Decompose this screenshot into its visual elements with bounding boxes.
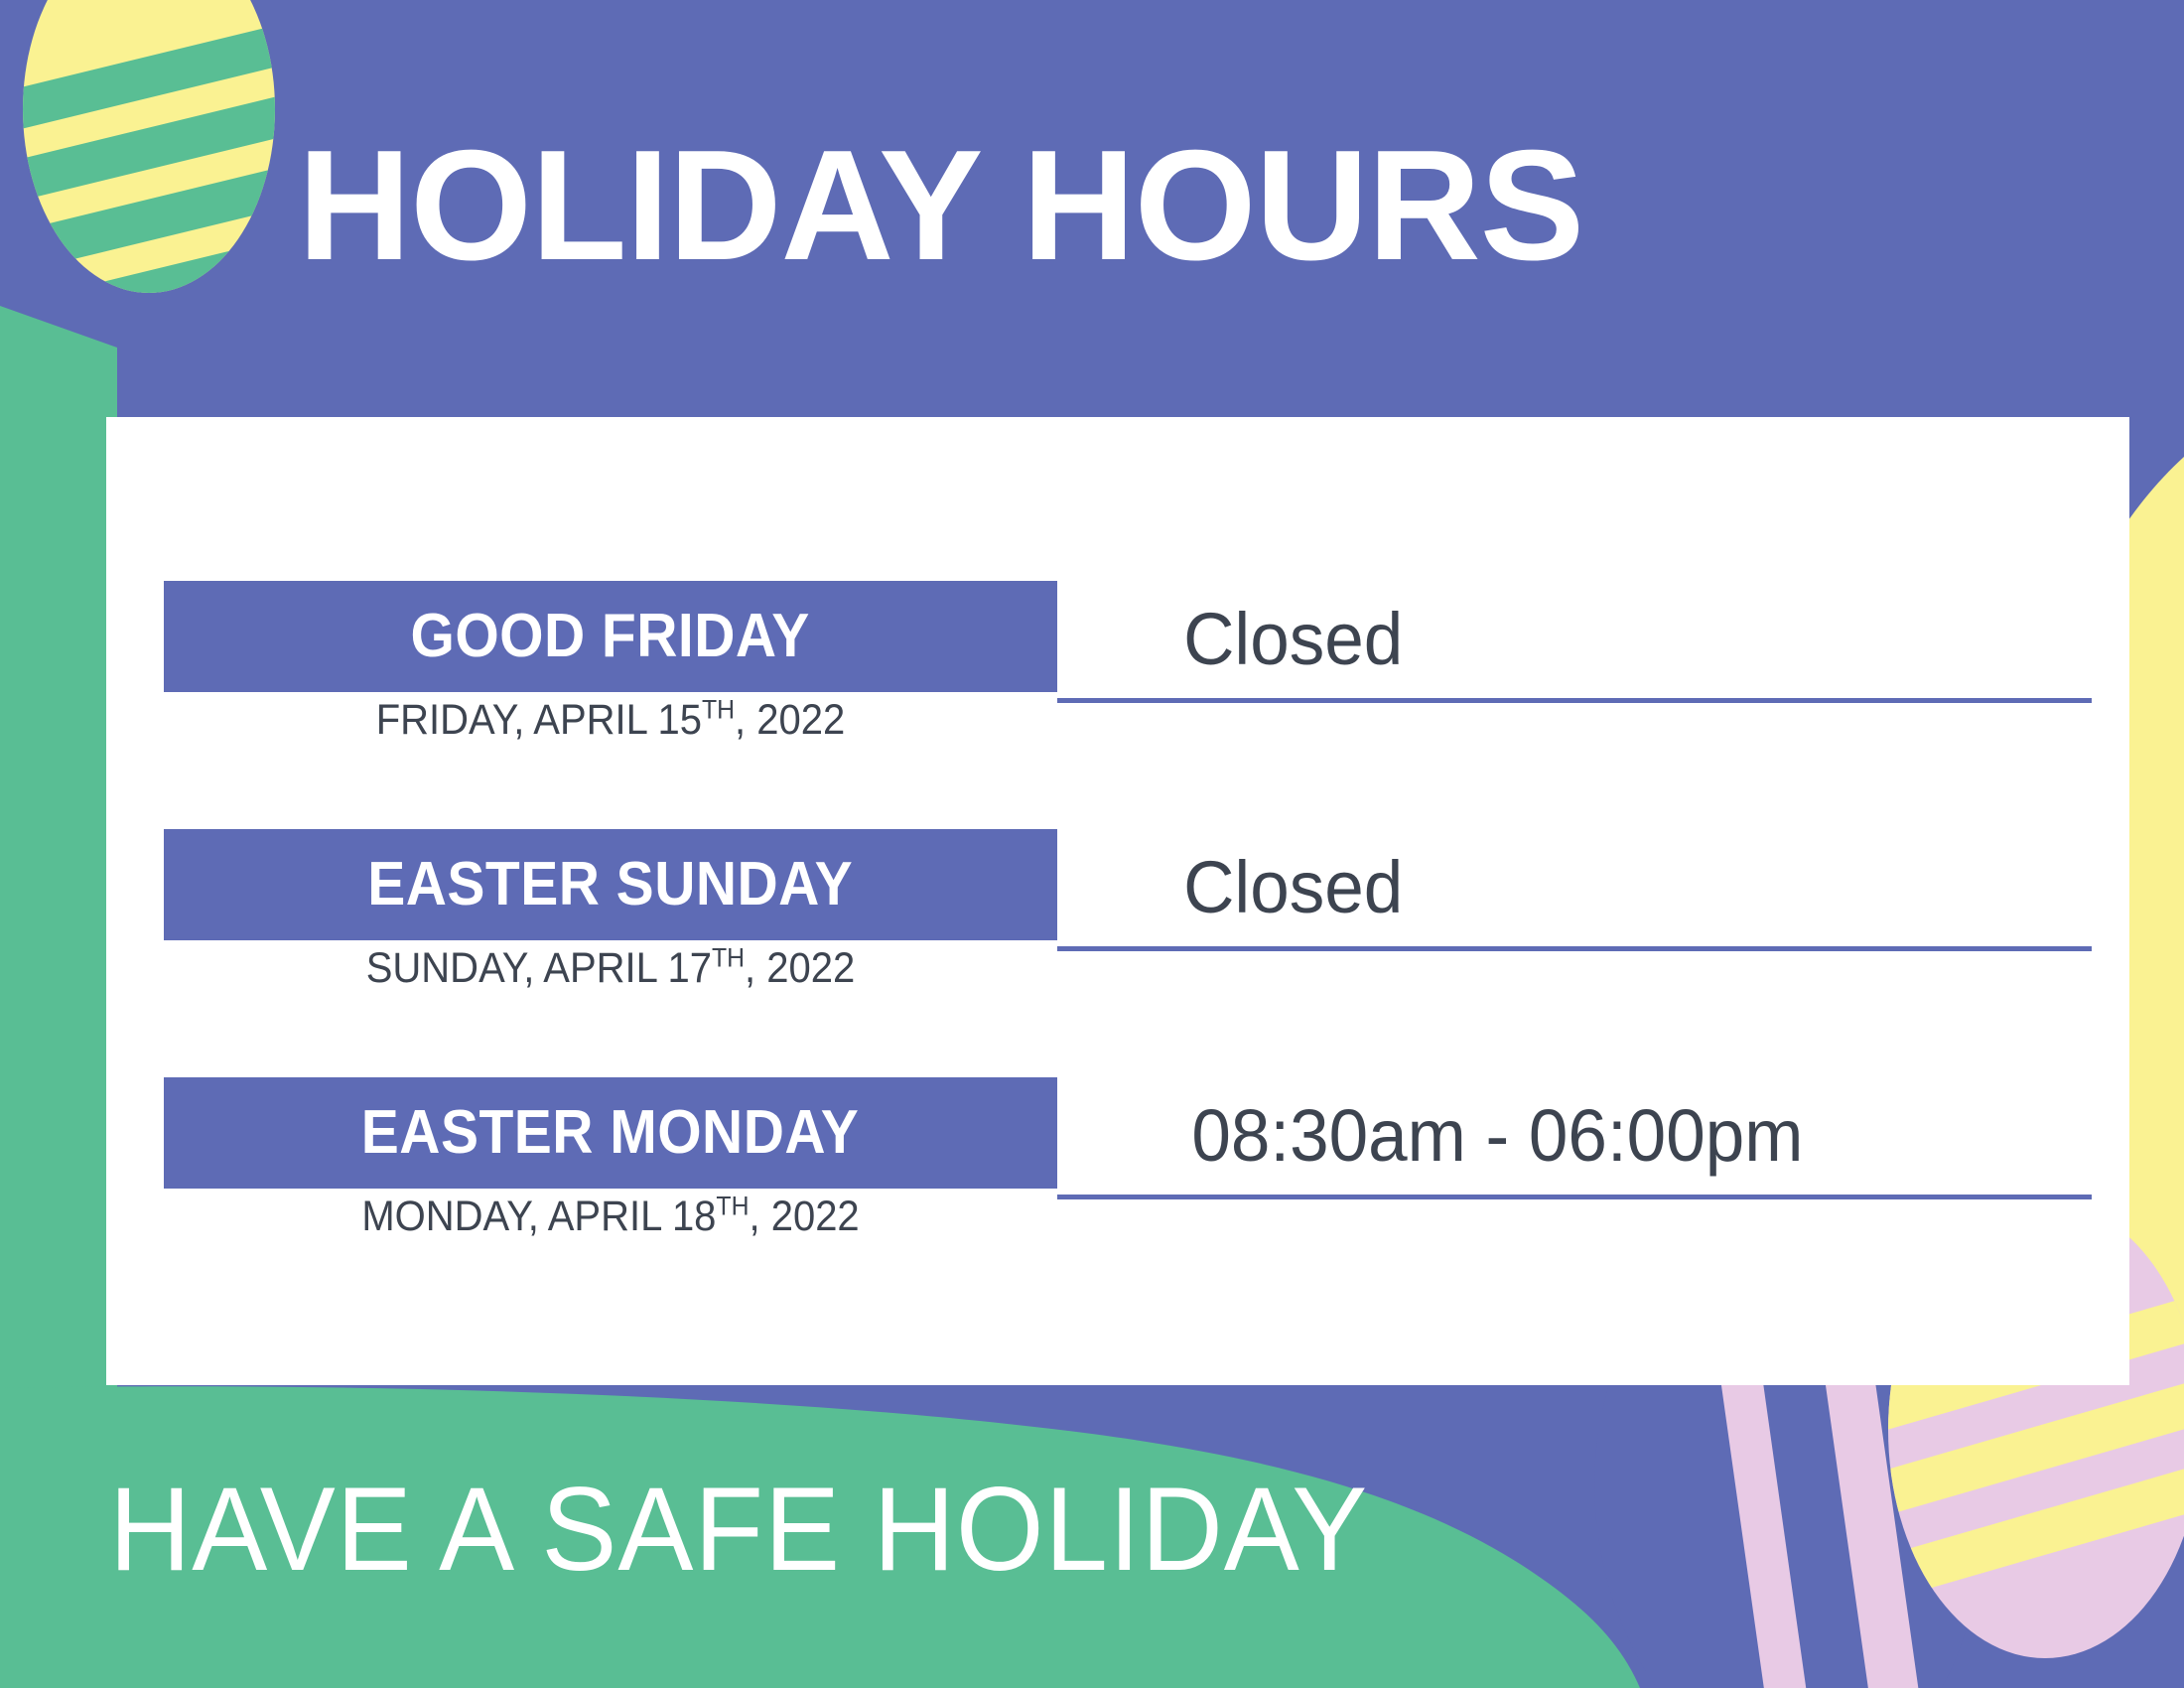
day-date-ordinal: TH — [702, 695, 735, 725]
day-label-bar: EASTER SUNDAY — [164, 829, 1057, 940]
day-date: FRIDAY, APRIL 15TH, 2022 — [196, 696, 1026, 745]
day-date-prefix: FRIDAY, APRIL 15 — [376, 696, 702, 744]
day-date: SUNDAY, APRIL 17TH, 2022 — [196, 944, 1026, 993]
day-date-prefix: MONDAY, APRIL 18 — [361, 1193, 716, 1240]
holiday-hours-poster: HOLIDAY HOURS GOOD FRIDAY FRIDAY, APRIL … — [0, 0, 2184, 1688]
day-date-suffix: , 2022 — [749, 1193, 859, 1240]
day-hours: Closed — [1064, 851, 1403, 924]
day-label: GOOD FRIDAY — [411, 606, 810, 667]
day-hours-field: Closed — [1057, 829, 2092, 951]
day-hours: Closed — [1064, 603, 1403, 676]
schedule-card: GOOD FRIDAY FRIDAY, APRIL 15TH, 2022 Clo… — [106, 417, 2129, 1385]
day-date: MONDAY, APRIL 18TH, 2022 — [196, 1193, 1026, 1241]
day-label-bar: GOOD FRIDAY — [164, 581, 1057, 692]
schedule-row: GOOD FRIDAY FRIDAY, APRIL 15TH, 2022 Clo… — [106, 581, 2129, 730]
page-title: HOLIDAY HOURS — [298, 127, 1583, 284]
day-date-suffix: , 2022 — [745, 944, 855, 992]
schedule-row: EASTER MONDAY MONDAY, APRIL 18TH, 2022 0… — [106, 1077, 2129, 1226]
footer-message: HAVE A SAFE HOLIDAY — [109, 1470, 1368, 1589]
day-date-ordinal: TH — [716, 1192, 749, 1221]
day-label: EASTER SUNDAY — [368, 854, 854, 915]
day-label: EASTER MONDAY — [361, 1102, 859, 1164]
day-hours: 08:30am - 06:00pm — [1072, 1099, 1803, 1173]
schedule-row: EASTER SUNDAY SUNDAY, APRIL 17TH, 2022 C… — [106, 829, 2129, 978]
day-date-prefix: SUNDAY, APRIL 17 — [366, 944, 712, 992]
day-hours-field: Closed — [1057, 581, 2092, 703]
day-hours-field: 08:30am - 06:00pm — [1057, 1077, 2092, 1199]
day-date-ordinal: TH — [712, 943, 745, 973]
day-label-bar: EASTER MONDAY — [164, 1077, 1057, 1189]
day-date-suffix: , 2022 — [735, 696, 845, 744]
